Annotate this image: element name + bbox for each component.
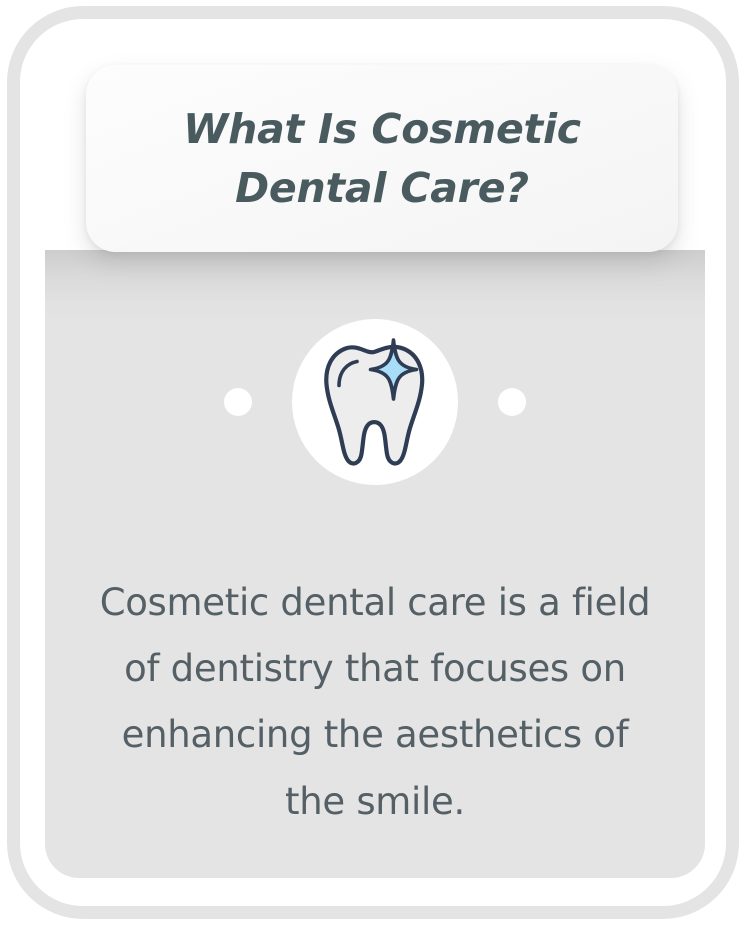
card-title: What Is Cosmetic Dental Care? — [86, 100, 678, 216]
card-stage: Cosmetic dental care is a field of denti… — [0, 0, 749, 930]
card-body-text: Cosmetic dental care is a field of denti… — [45, 570, 705, 835]
icon-row — [45, 312, 705, 492]
icon-badge — [292, 319, 458, 485]
sparkling-tooth-icon — [315, 336, 435, 468]
left-dot-icon — [224, 388, 252, 416]
content-panel: Cosmetic dental care is a field of denti… — [45, 250, 705, 878]
header-card: What Is Cosmetic Dental Care? — [86, 65, 678, 252]
right-dot-icon — [498, 388, 526, 416]
